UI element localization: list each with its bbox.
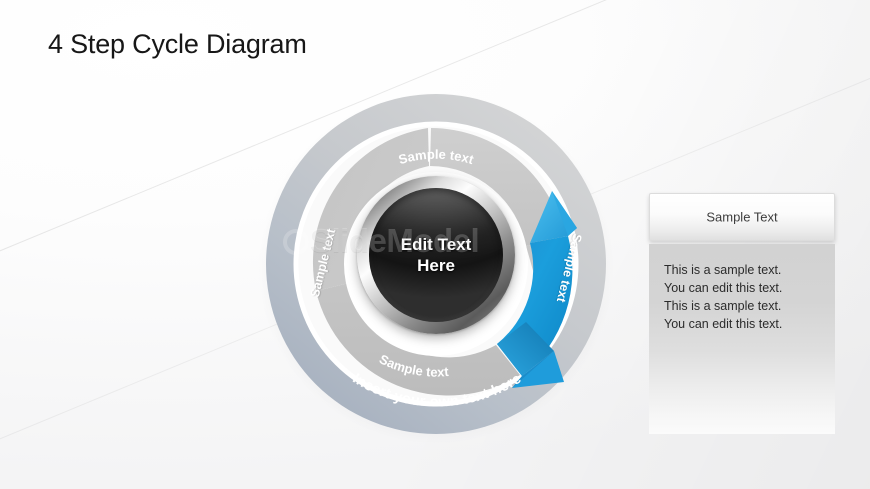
center-button[interactable]: Edit Text Here: [357, 176, 515, 334]
page-title: 4 Step Cycle Diagram: [48, 27, 307, 61]
info-panel-body: This is a sample text. You can edit this…: [649, 244, 835, 434]
info-panel-header[interactable]: Sample Text: [649, 193, 835, 241]
center-button-label: Edit Text Here: [357, 234, 515, 276]
slide-canvas: 4 Step Cycle Diagram: [0, 0, 870, 489]
center-button-label-line1: Edit Text: [357, 234, 515, 255]
info-panel-body-text: This is a sample text. You can edit this…: [664, 261, 782, 333]
cycle-diagram: Insert your own text here Sample text Sa…: [264, 76, 608, 452]
info-panel: Sample Text This is a sample text. You c…: [649, 193, 835, 434]
info-panel-header-label: Sample Text: [650, 210, 834, 225]
center-button-label-line2: Here: [357, 255, 515, 276]
